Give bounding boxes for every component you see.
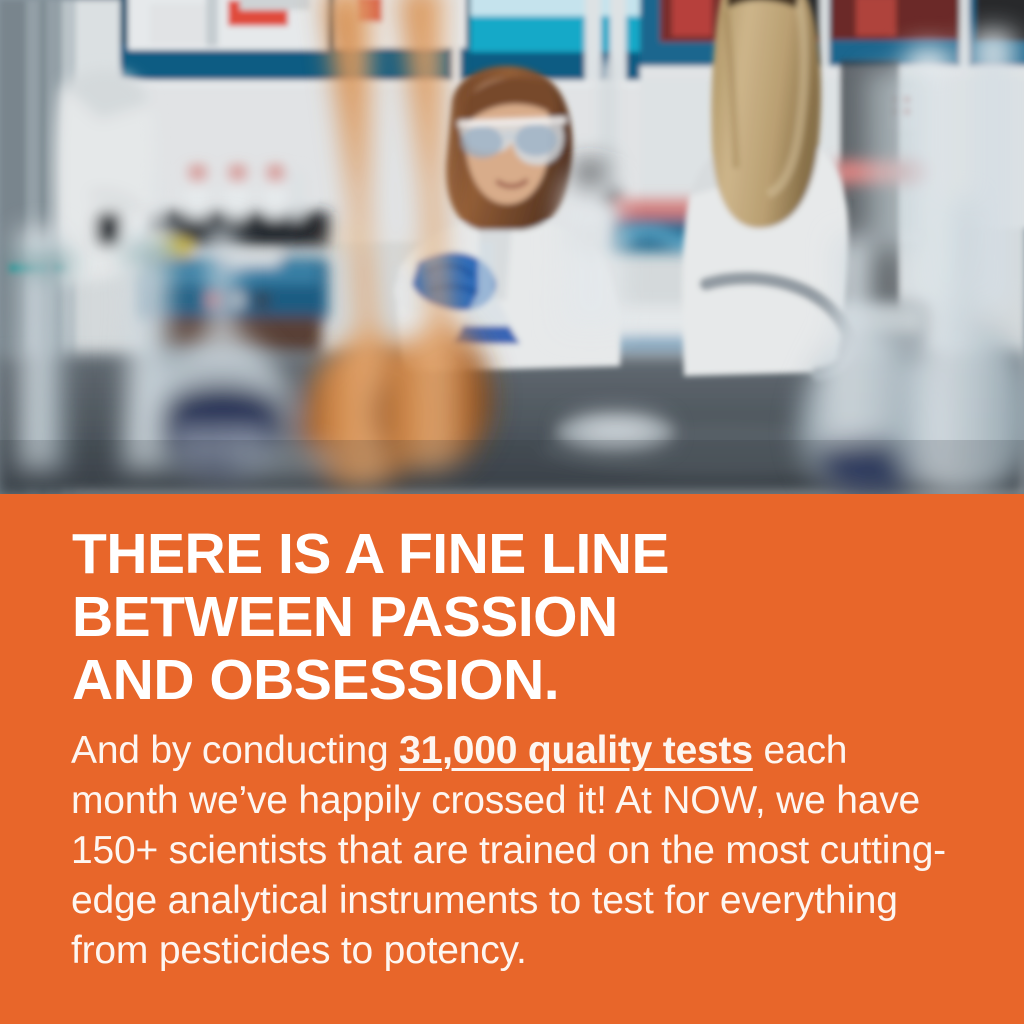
laboratory-photo: 500	[0, 0, 1024, 494]
page-title: THERE IS A FINE LINE BETWEEN PASSION AND…	[72, 523, 972, 712]
quality-tests-emphasis: 31,000 quality tests	[399, 729, 753, 772]
body-copy-part1: And by conducting	[71, 729, 399, 772]
promo-poster: 500	[0, 0, 1024, 1024]
orange-text-panel: THERE IS A FINE LINE BETWEEN PASSION AND…	[0, 494, 1024, 1024]
body-copy: And by conducting 31,000 quality tests e…	[71, 726, 951, 976]
laboratory-photo-illustration: 500	[0, 0, 1024, 494]
